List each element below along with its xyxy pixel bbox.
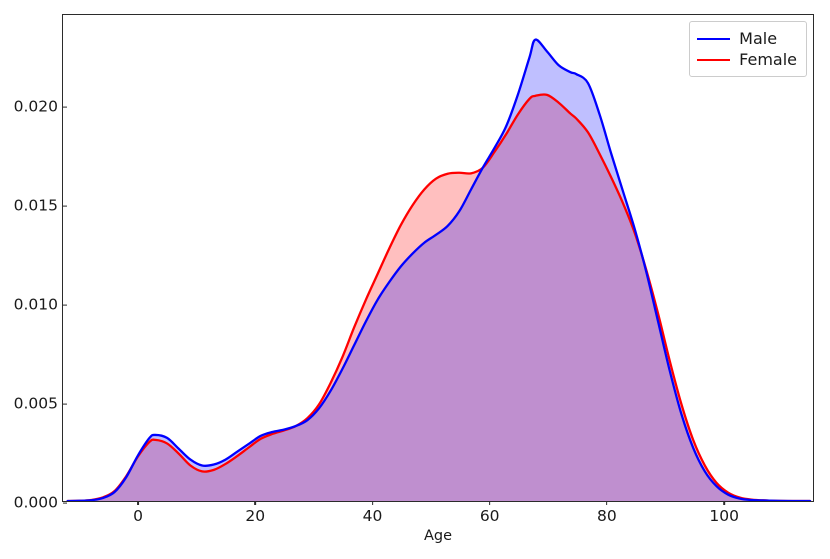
x-tick-label: 40 bbox=[363, 509, 383, 525]
x-tick: 0 bbox=[133, 501, 143, 525]
male-area-group bbox=[68, 40, 810, 501]
male-area-fill bbox=[68, 40, 810, 501]
x-tick-label: 100 bbox=[709, 509, 739, 525]
x-tick: 60 bbox=[480, 501, 500, 525]
x-tick-label: 20 bbox=[245, 509, 265, 525]
y-tick: 0.015 bbox=[14, 198, 63, 214]
x-tick-mark bbox=[723, 501, 724, 505]
legend-label-female: Female bbox=[739, 52, 797, 68]
legend-label-male: Male bbox=[739, 31, 777, 47]
x-tick: 20 bbox=[245, 501, 265, 525]
y-tick-mark bbox=[63, 304, 67, 305]
x-tick-label: 60 bbox=[480, 509, 500, 525]
y-tick-mark bbox=[63, 106, 67, 107]
y-tick-label: 0.010 bbox=[14, 297, 63, 313]
legend-entry-female: Female bbox=[697, 49, 797, 70]
kde-density-figure: 0.0000.0050.0100.0150.020 020406080100 M… bbox=[0, 0, 830, 559]
x-tick-mark bbox=[489, 501, 490, 505]
x-tick-mark bbox=[372, 501, 373, 505]
x-tick: 80 bbox=[597, 501, 617, 525]
y-tick: 0.020 bbox=[14, 99, 63, 115]
y-tick-label: 0.005 bbox=[14, 396, 63, 412]
y-tick: 0.010 bbox=[14, 297, 63, 313]
x-tick-mark bbox=[255, 501, 256, 505]
y-tick-label: 0.000 bbox=[14, 495, 63, 511]
y-tick-mark bbox=[63, 502, 67, 503]
y-tick-label: 0.020 bbox=[14, 99, 63, 115]
y-tick: 0.005 bbox=[14, 396, 63, 412]
x-tick-mark bbox=[606, 501, 607, 505]
x-tick: 40 bbox=[363, 501, 383, 525]
legend: Male Female bbox=[689, 21, 807, 77]
x-tick-label: 0 bbox=[133, 509, 143, 525]
y-tick-label: 0.015 bbox=[14, 198, 63, 214]
legend-entry-male: Male bbox=[697, 28, 797, 49]
legend-line-swatch-male bbox=[697, 38, 730, 40]
x-axis-title: Age bbox=[62, 528, 814, 544]
legend-line-swatch-female bbox=[697, 59, 730, 61]
x-tick: 100 bbox=[709, 501, 739, 525]
density-curves-svg bbox=[63, 15, 813, 501]
x-tick-label: 80 bbox=[597, 509, 617, 525]
y-tick-mark bbox=[63, 205, 67, 206]
plot-area: 0.0000.0050.0100.0150.020 020406080100 M… bbox=[62, 14, 814, 502]
x-tick-mark bbox=[137, 501, 138, 505]
y-tick-mark bbox=[63, 403, 67, 404]
y-tick: 0.000 bbox=[14, 495, 63, 511]
